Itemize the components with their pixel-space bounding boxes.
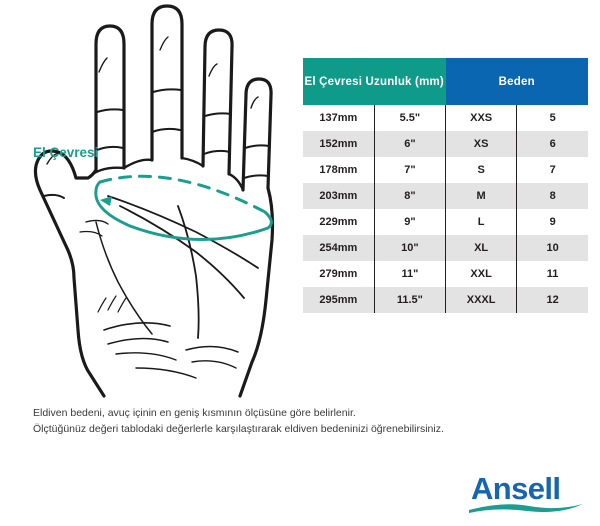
header-hand-circumference: El Çevresi Uzunluk (mm) [303, 58, 446, 105]
cell-number: 6 [517, 131, 588, 157]
cell-letter: XXS [446, 105, 517, 131]
table-body: 137mm 5.5" XXS 5 152mm 6" XS 6 178mm 7" … [303, 105, 588, 313]
caption-line-2: Ölçtüğünüz değeri tablodaki değerlerle k… [33, 422, 573, 438]
cell-number: 12 [517, 287, 588, 313]
table-row: 178mm 7" S 7 [303, 157, 588, 183]
cell-number: 11 [517, 261, 588, 287]
hand-circumference-label: El Çevresi [33, 145, 98, 160]
header-size: Beden [446, 58, 589, 105]
ansell-wordmark: Ansell [471, 471, 560, 506]
cell-number: 9 [517, 209, 588, 235]
table-row: 295mm 11.5" XXXL 12 [303, 287, 588, 313]
cell-inch: 8" [374, 183, 445, 209]
cell-mm: 178mm [303, 157, 374, 183]
open-palm-hand-icon: El Çevresi [0, 0, 300, 400]
cell-inch: 9" [374, 209, 445, 235]
cell-mm: 152mm [303, 131, 374, 157]
table-row: 279mm 11" XXL 11 [303, 261, 588, 287]
cell-letter: XXXL [446, 287, 517, 313]
cell-number: 5 [517, 105, 588, 131]
cell-inch: 6" [374, 131, 445, 157]
cell-letter: M [446, 183, 517, 209]
table-row: 203mm 8" M 8 [303, 183, 588, 209]
glove-size-table: El Çevresi Uzunluk (mm) Beden 137mm 5.5"… [303, 58, 588, 313]
cell-letter: XS [446, 131, 517, 157]
cell-mm: 203mm [303, 183, 374, 209]
ansell-logo: Ansell [463, 468, 588, 516]
cell-mm: 137mm [303, 105, 374, 131]
cell-mm: 295mm [303, 287, 374, 313]
cell-letter: S [446, 157, 517, 183]
cell-letter: XXL [446, 261, 517, 287]
cell-inch: 7" [374, 157, 445, 183]
caption-line-1: Eldiven bedeni, avuç içinin en geniş kıs… [33, 406, 573, 422]
caption-block: Eldiven bedeni, avuç içinin en geniş kıs… [33, 406, 573, 437]
table-row: 137mm 5.5" XXS 5 [303, 105, 588, 131]
cell-mm: 279mm [303, 261, 374, 287]
cell-number: 7 [517, 157, 588, 183]
table-header: El Çevresi Uzunluk (mm) Beden [303, 58, 588, 105]
cell-inch: 11.5" [374, 287, 445, 313]
cell-inch: 5.5" [374, 105, 445, 131]
cell-number: 10 [517, 235, 588, 261]
cell-inch: 10" [374, 235, 445, 261]
cell-number: 8 [517, 183, 588, 209]
table-row: 254mm 10" XL 10 [303, 235, 588, 261]
cell-letter: XL [446, 235, 517, 261]
cell-letter: L [446, 209, 517, 235]
cell-inch: 11" [374, 261, 445, 287]
cell-mm: 229mm [303, 209, 374, 235]
table-header-row: El Çevresi Uzunluk (mm) Beden [303, 58, 588, 105]
table-row: 152mm 6" XS 6 [303, 131, 588, 157]
cell-mm: 254mm [303, 235, 374, 261]
hand-illustration: El Çevresi [0, 0, 300, 400]
ellipse-arrow-icon [100, 196, 112, 206]
table-row: 229mm 9" L 9 [303, 209, 588, 235]
ansell-logo-icon: Ansell [463, 468, 588, 516]
